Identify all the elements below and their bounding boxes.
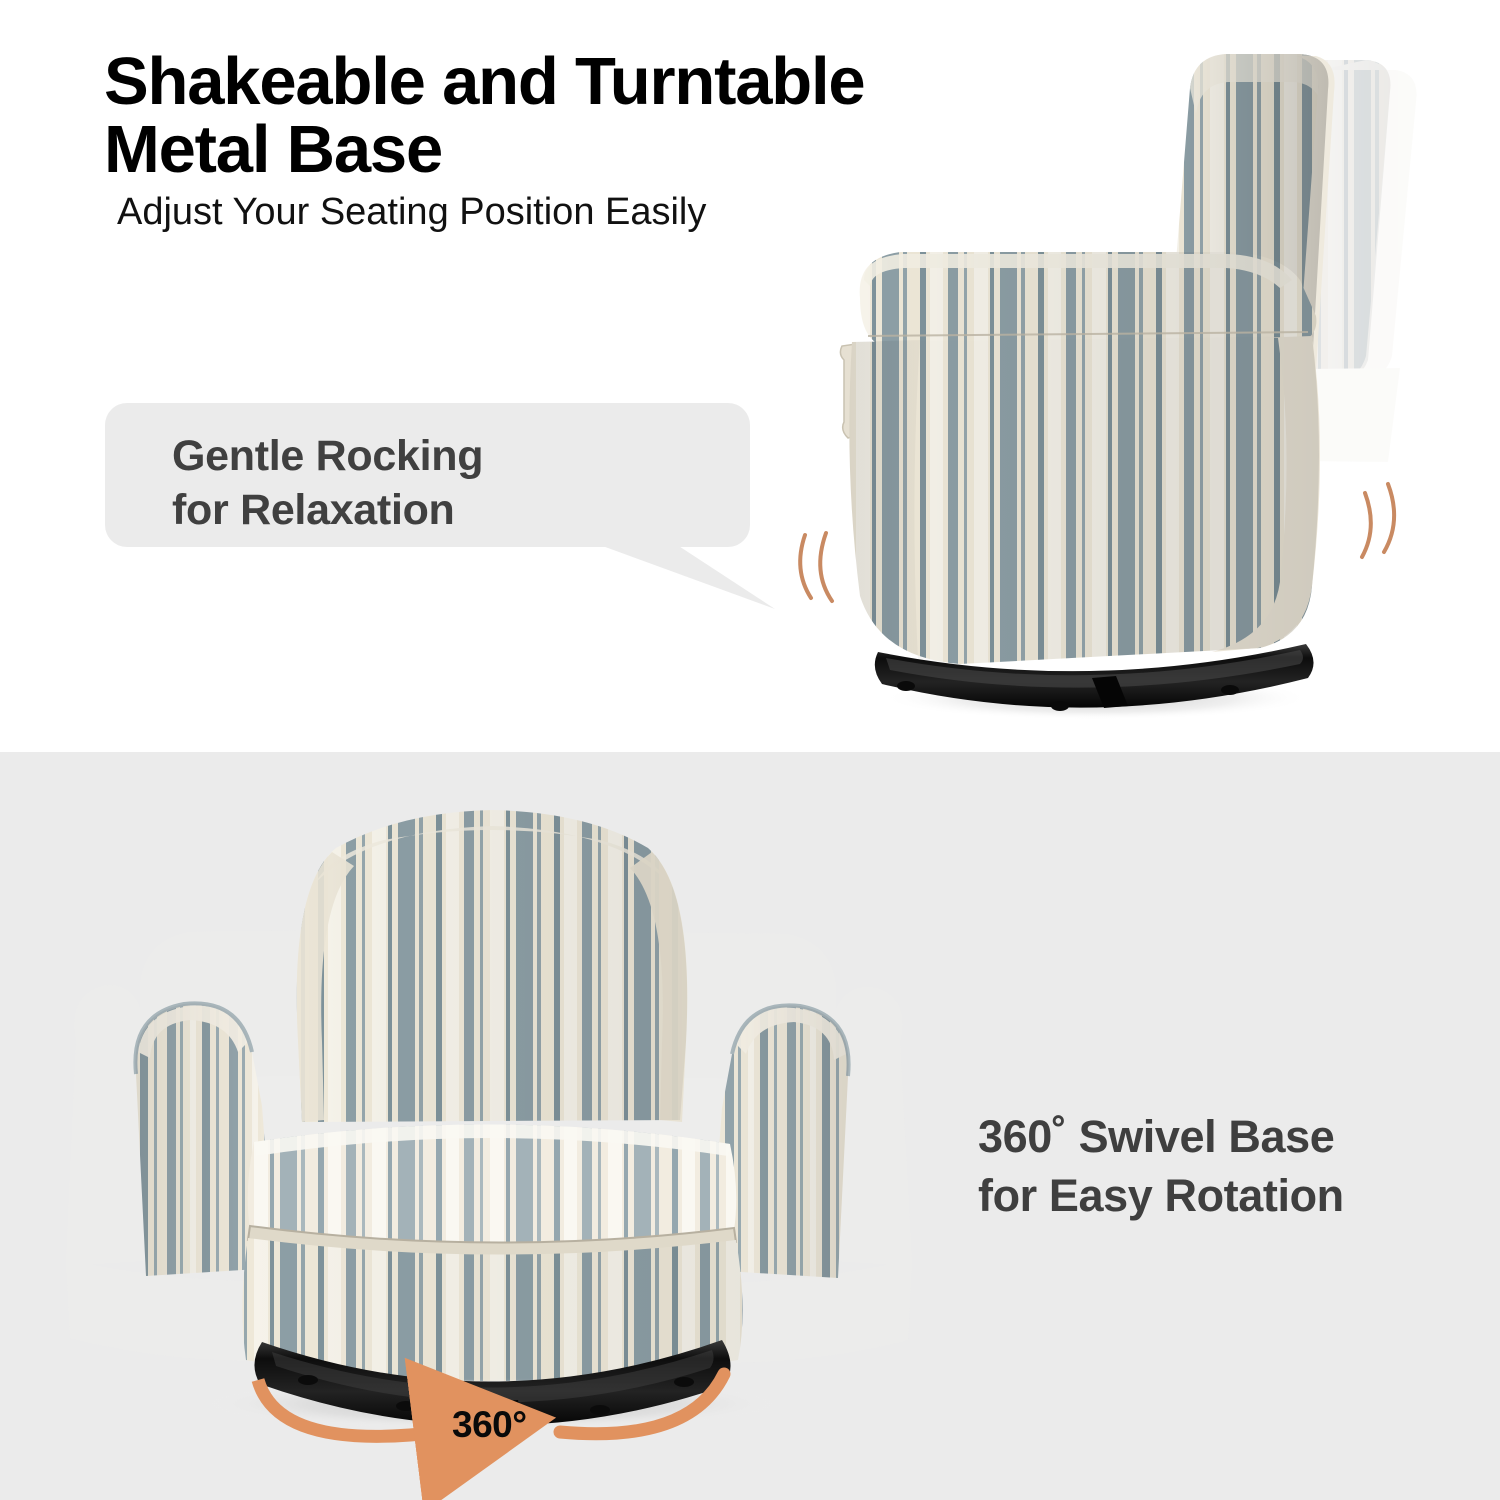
rocking-chair-side-view	[760, 30, 1500, 750]
rotation-degree-label: 360°	[452, 1404, 527, 1446]
swivel-base-caption: 360˚ Swivel Base for Easy Rotation	[978, 1108, 1448, 1225]
callout-bubble-label: Gentle Rocking for Relaxation	[172, 429, 732, 537]
chair-backrest	[297, 810, 688, 1122]
swivel-chair-front-view	[40, 790, 940, 1480]
gentle-rocking-callout: Gentle Rocking for Relaxation	[105, 403, 785, 588]
infographic-canvas: Shakeable and Turntable Metal Base Adjus…	[0, 0, 1500, 1500]
chair-body	[849, 336, 1320, 664]
chair-arm-roll	[860, 252, 1317, 348]
chair-seat-cushion	[248, 1124, 737, 1256]
